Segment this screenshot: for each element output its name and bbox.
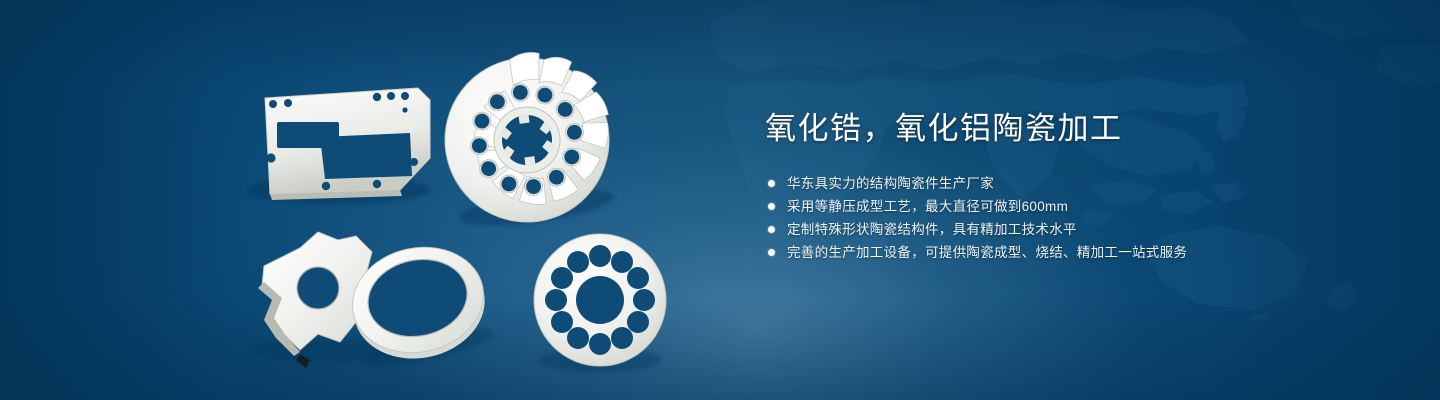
bullet-dot-icon [768, 226, 775, 233]
page-title: 氧化锆，氧化铝陶瓷加工 [765, 108, 1385, 150]
list-item: 完善的生产加工设备，可提供陶瓷成型、烧结、精加工一站式服务 [765, 241, 1385, 264]
list-item: 定制特殊形状陶瓷结构件，具有精加工技术水平 [765, 218, 1385, 241]
ceramic-impeller-disc [434, 43, 622, 234]
banner-copy: 氧化锆，氧化铝陶瓷加工 华东具实力的结构陶瓷件生产厂家 采用等静压成型工艺，最大… [765, 108, 1385, 264]
feature-text: 采用等静压成型工艺，最大直径可做到600mm [787, 195, 1068, 218]
feature-text: 定制特殊形状陶瓷结构件，具有精加工技术水平 [787, 218, 1077, 241]
bullet-dot-icon [768, 180, 775, 187]
feature-text: 完善的生产加工设备，可提供陶瓷成型、烧结、精加工一站式服务 [787, 241, 1187, 264]
hero-banner: 氧化锆，氧化铝陶瓷加工 华东具实力的结构陶瓷件生产厂家 采用等静压成型工艺，最大… [0, 0, 1440, 400]
feature-text: 华东具实力的结构陶瓷件生产厂家 [787, 172, 994, 195]
bullet-dot-icon [768, 203, 775, 210]
ceramic-plate-with-cutouts [248, 88, 432, 204]
ceramic-products-image [0, 0, 720, 400]
feature-list: 华东具实力的结构陶瓷件生产厂家 采用等静压成型工艺，最大直径可做到600mm 定… [765, 172, 1385, 264]
list-item: 华东具实力的结构陶瓷件生产厂家 [765, 172, 1385, 195]
bullet-dot-icon [768, 249, 775, 256]
list-item: 采用等静压成型工艺，最大直径可做到600mm [765, 195, 1385, 218]
ceramic-perforated-disc [534, 234, 666, 372]
